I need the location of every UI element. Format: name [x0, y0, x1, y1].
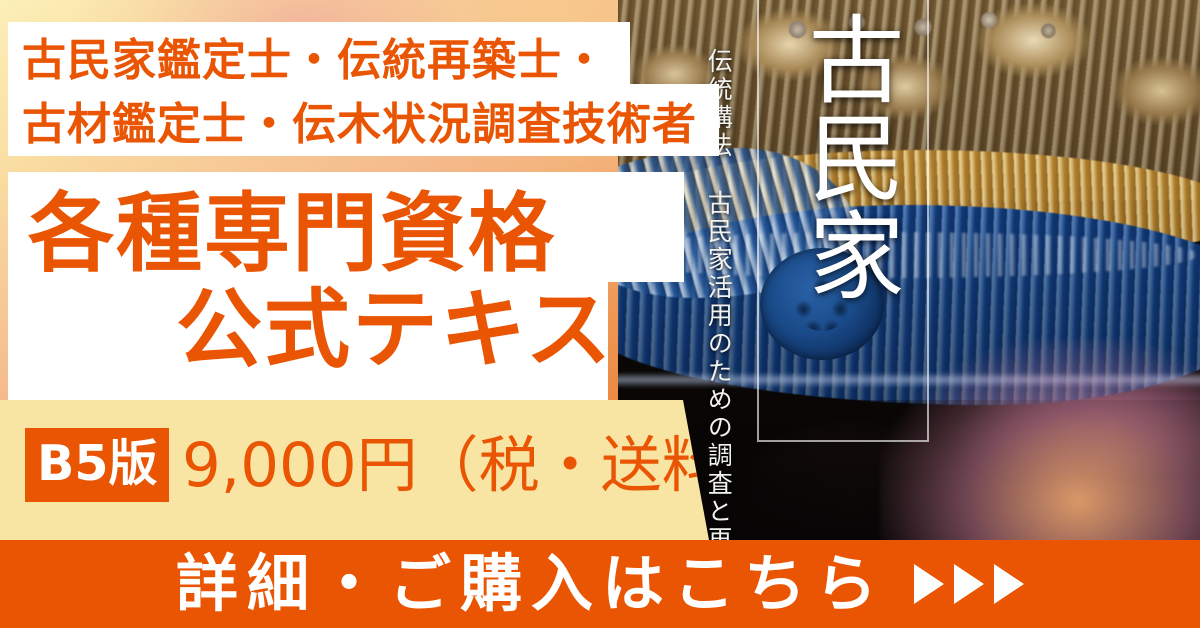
cta-arrows — [914, 564, 1024, 604]
size-badge: B5版 — [25, 428, 169, 502]
cta-bar[interactable]: 詳細・ご購入はこちら — [0, 540, 1200, 628]
price-band: B5版 9,000円（税・送料込） — [0, 400, 712, 540]
book-cover-image: 古民家 伝統構法 古民家活用のための調査と再生の — [618, 0, 1200, 540]
book-cover-title: 古民家 — [770, 10, 912, 304]
qualifications-panel: 古民家鑑定士・伝統再築士・ 古材鑑定士・伝木状況調査技術者 — [8, 22, 720, 171]
triangle-right-icon — [994, 564, 1024, 604]
heading-panel: 各種専門資格 公式テキスト — [8, 172, 684, 400]
triangle-right-icon — [954, 564, 984, 604]
qualification-line-1: 古民家鑑定士・伝統再築士・ — [8, 29, 720, 93]
promo-banner: 古民家 伝統構法 古民家活用のための調査と再生の 古民家鑑定士・伝統再築士・ 古… — [0, 0, 1200, 628]
triangle-right-icon — [914, 564, 944, 604]
cta-label: 詳細・ご購入はこちら — [176, 548, 886, 620]
heading-line-1: 各種専門資格 — [28, 184, 556, 284]
qualification-line-2: 古材鑑定士・伝木状況調査技術者 — [8, 93, 720, 157]
